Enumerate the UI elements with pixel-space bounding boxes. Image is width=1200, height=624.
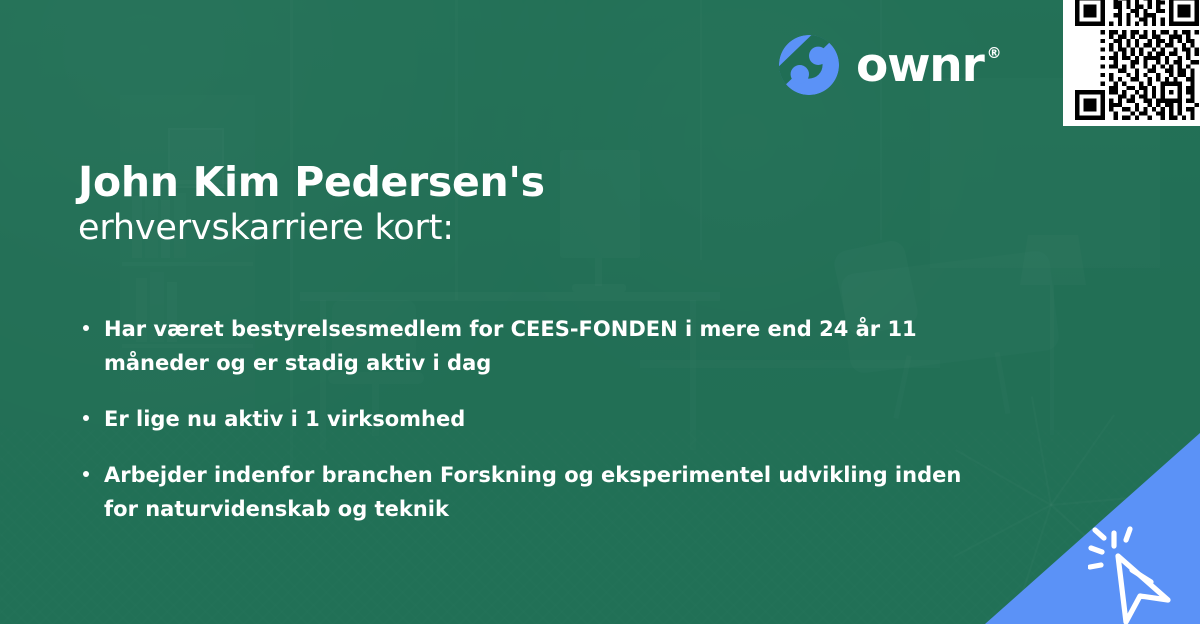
bullet-dot-icon [83,471,89,477]
list-item-text: Er lige nu aktiv i 1 virksomhed [104,407,465,431]
business-card-banner: ownr ® [0,0,1200,624]
career-facts-list: Har været bestyrelsesmedlem for CEES-FON… [78,312,983,526]
bullet-dot-icon [83,325,89,331]
page-title: John Kim Pedersen's erhvervskarriere kor… [78,158,978,251]
headline-line-1: John Kim Pedersen's [78,158,978,206]
qr-code[interactable] [1063,0,1200,126]
list-item: Har været bestyrelsesmedlem for CEES-FON… [78,312,983,380]
bullet-dot-icon [83,415,89,421]
ownr-wordmark-text: ownr [856,42,984,89]
click-cursor-icon [1088,516,1196,624]
list-item: Er lige nu aktiv i 1 virksomhed [78,402,983,436]
ownr-circle-swoosh-icon [778,34,840,96]
ownr-wordmark: ownr ® [856,42,1000,89]
ownr-logo[interactable]: ownr ® [778,34,1000,96]
list-item-text: Arbejder indenfor branchen Forskning og … [104,463,961,521]
list-item: Arbejder indenfor branchen Forskning og … [78,458,983,526]
registered-trademark-symbol: ® [987,46,1001,61]
list-item-text: Har været bestyrelsesmedlem for CEES-FON… [104,317,917,375]
qr-code-icon [1075,0,1199,120]
headline-line-2: erhvervskarriere kort: [78,206,978,251]
